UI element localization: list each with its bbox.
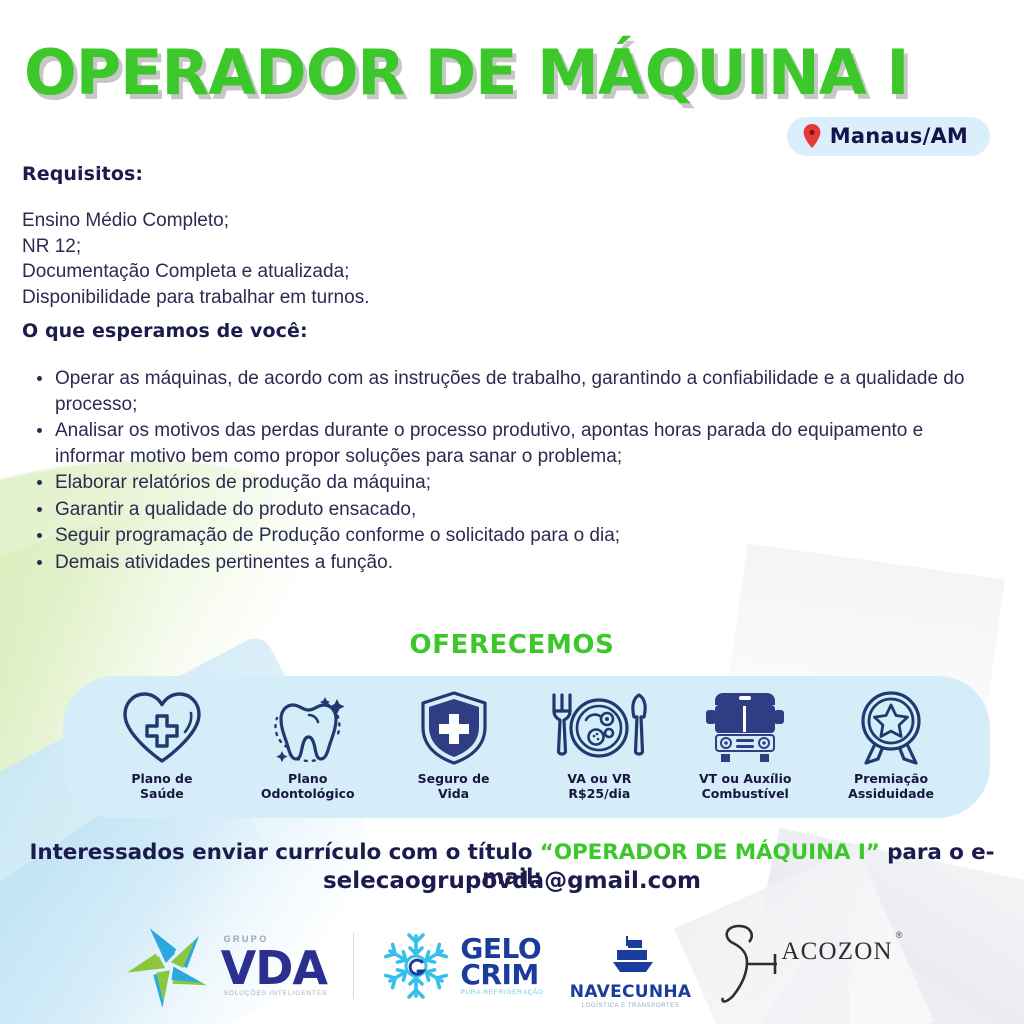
expectation-item: Analisar os motivos das perdas durante o… — [33, 418, 993, 469]
map-pin-icon — [803, 124, 821, 148]
benefit-seguro-vida: Seguro de Vida — [381, 688, 527, 801]
expectation-item: Demais atividades pertinentes a função. — [33, 550, 993, 576]
benefit-label: Plano de Saúde — [131, 772, 192, 801]
shield-cross-icon — [411, 688, 497, 768]
benefits-panel: Plano de Saúde Plano Odontológico — [63, 676, 990, 818]
heart-cross-icon — [119, 688, 205, 768]
bacozon-b-mark-icon — [717, 916, 779, 1012]
benefit-label: Seguro de Vida — [418, 772, 490, 801]
partner-logos: GRUPO VDA SOLUÇÕES INTELIGENTES GELO CRI… — [0, 912, 1024, 1020]
gelo-wordmark: GELO CRIM PURA REFRIGERAÇÃO — [460, 936, 543, 996]
benefit-premiacao: Premiação Assiduidade — [818, 688, 964, 801]
requirements-heading: Requisitos: — [22, 163, 143, 185]
logo-bacozon: ACOZON ® — [717, 916, 901, 1016]
offers-heading: OFERECEMOS — [0, 630, 1024, 660]
snowflake-icon — [380, 930, 452, 1002]
requirement-item: NR 12; — [22, 234, 369, 260]
benefit-va-vr: VA ou VR R$25/dia — [526, 688, 672, 801]
requirement-item: Documentação Completa e atualizada; — [22, 259, 369, 285]
vda-sub-text: SOLUÇÕES INTELIGENTES — [224, 991, 328, 998]
expectation-item: Seguir programação de Produção conforme … — [33, 523, 993, 549]
navecunha-name: NAVECUNHA — [570, 982, 692, 1002]
expectation-item: Elaborar relatórios de produção da máqui… — [33, 470, 993, 496]
benefit-label: Premiação Assiduidade — [848, 772, 934, 801]
expectations-list: Operar as máquinas, de acordo com as ins… — [33, 366, 993, 576]
expectations-heading: O que esperamos de você: — [22, 320, 308, 342]
benefit-label: VA ou VR R$25/dia — [567, 772, 631, 801]
logo-navecunha: NAVECUNHA LOGÍSTICA E TRANSPORTES — [570, 916, 692, 1016]
bus-icon — [699, 688, 791, 768]
location-label: Manaus/AM — [830, 124, 968, 148]
contact-highlight: “OPERADOR DE MÁQUINA I” — [540, 840, 880, 865]
vda-pinwheel-icon — [123, 920, 215, 1012]
contact-email[interactable]: selecaogrupovda@gmail.com — [0, 868, 1024, 894]
award-medal-icon — [848, 688, 934, 768]
benefit-plano-saude: Plano de Saúde — [89, 688, 235, 801]
tooth-icon — [265, 688, 351, 768]
benefit-label: VT ou Auxílio Combustível — [699, 772, 791, 801]
page-title: OPERADOR DE MÁQUINA I — [24, 36, 908, 109]
navecunha-sub: LOGÍSTICA E TRANSPORTES — [582, 1003, 680, 1009]
gelo-line2: CRIM — [460, 962, 543, 988]
vda-wordmark: GRUPO VDA SOLUÇÕES INTELIGENTES — [221, 935, 328, 998]
bacozon-wordmark: ACOZON — [781, 938, 892, 966]
logo-grupo-vda: GRUPO VDA SOLUÇÕES INTELIGENTES — [123, 916, 328, 1016]
vda-main-text: VDA — [221, 945, 327, 991]
expectation-item: Operar as máquinas, de acordo com as ins… — [33, 366, 993, 417]
benefit-label: Plano Odontológico — [261, 772, 355, 801]
logo-gelo-crim: GELO CRIM PURA REFRIGERAÇÃO — [380, 916, 543, 1016]
location-badge: Manaus/AM — [787, 117, 990, 156]
boat-moon-icon — [593, 924, 669, 982]
requirement-item: Disponibilidade para trabalhar em turnos… — [22, 285, 369, 311]
expectation-item: Garantir a qualidade do produto ensacado… — [33, 497, 993, 523]
logo-divider — [353, 933, 354, 999]
gelo-sub-text: PURA REFRIGERAÇÃO — [460, 990, 543, 996]
meal-plate-icon — [544, 688, 654, 768]
contact-prefix: Interessados enviar currículo com o títu… — [30, 840, 540, 865]
benefit-vt-combustivel: VT ou Auxílio Combustível — [672, 688, 818, 801]
requirements-list: Ensino Médio Completo; NR 12; Documentaç… — [22, 208, 369, 310]
benefit-plano-odontologico: Plano Odontológico — [235, 688, 381, 801]
requirement-item: Ensino Médio Completo; — [22, 208, 369, 234]
registered-mark-icon: ® — [896, 930, 903, 940]
